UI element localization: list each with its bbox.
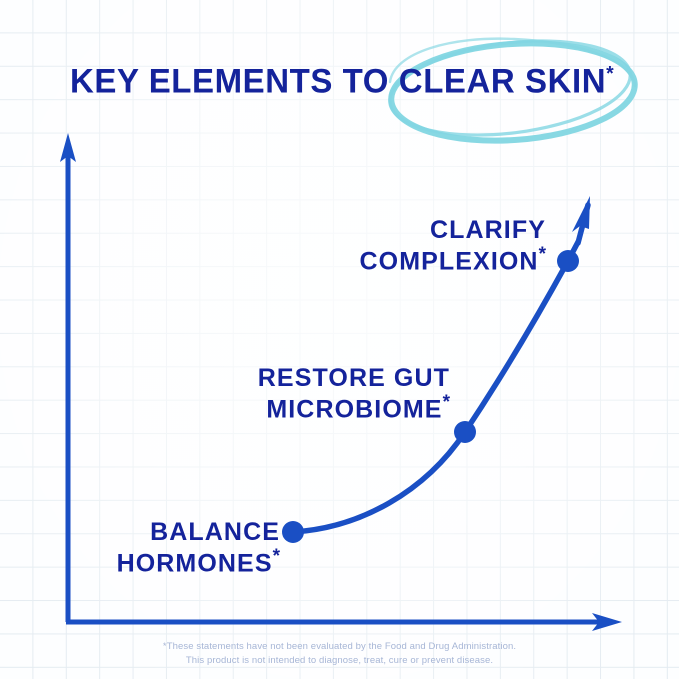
- label-restore-gut-microbiome: RESTORE GUT MICROBIOME*: [258, 364, 450, 423]
- label-clarify-complexion: CLARIFY COMPLEXION*: [360, 216, 546, 275]
- data-point-restore-gut-microbiome: [454, 421, 476, 443]
- label-balance-hormones: BALANCE HORMONES*: [117, 518, 280, 577]
- data-point-clarify-complexion: [557, 250, 579, 272]
- infographic-canvas: KEY ELEMENTS TO CLEAR SKIN* BALANCE HORM…: [0, 0, 679, 679]
- label-clarify-complexion-asterisk: *: [539, 244, 546, 265]
- disclaimer: *These statements have not been evaluate…: [0, 640, 679, 668]
- data-point-balance-hormones: [282, 521, 304, 543]
- disclaimer-line-1: *These statements have not been evaluate…: [0, 640, 679, 654]
- label-balance-hormones-line1: BALANCE: [150, 518, 280, 546]
- label-balance-hormones-line2: HORMONES: [117, 549, 273, 577]
- label-restore-gut-microbiome-asterisk: *: [443, 392, 450, 413]
- label-clarify-complexion-line1: CLARIFY: [430, 216, 546, 244]
- chart-plot: [0, 0, 679, 679]
- label-balance-hormones-asterisk: *: [273, 546, 280, 567]
- x-axis: [66, 613, 622, 631]
- label-restore-gut-microbiome-line2: MICROBIOME: [266, 395, 442, 423]
- label-clarify-complexion-line2: COMPLEXION: [360, 247, 539, 275]
- y-axis: [60, 133, 76, 622]
- label-restore-gut-microbiome-line1: RESTORE GUT: [258, 364, 450, 392]
- disclaimer-line-2: This product is not intended to diagnose…: [0, 654, 679, 668]
